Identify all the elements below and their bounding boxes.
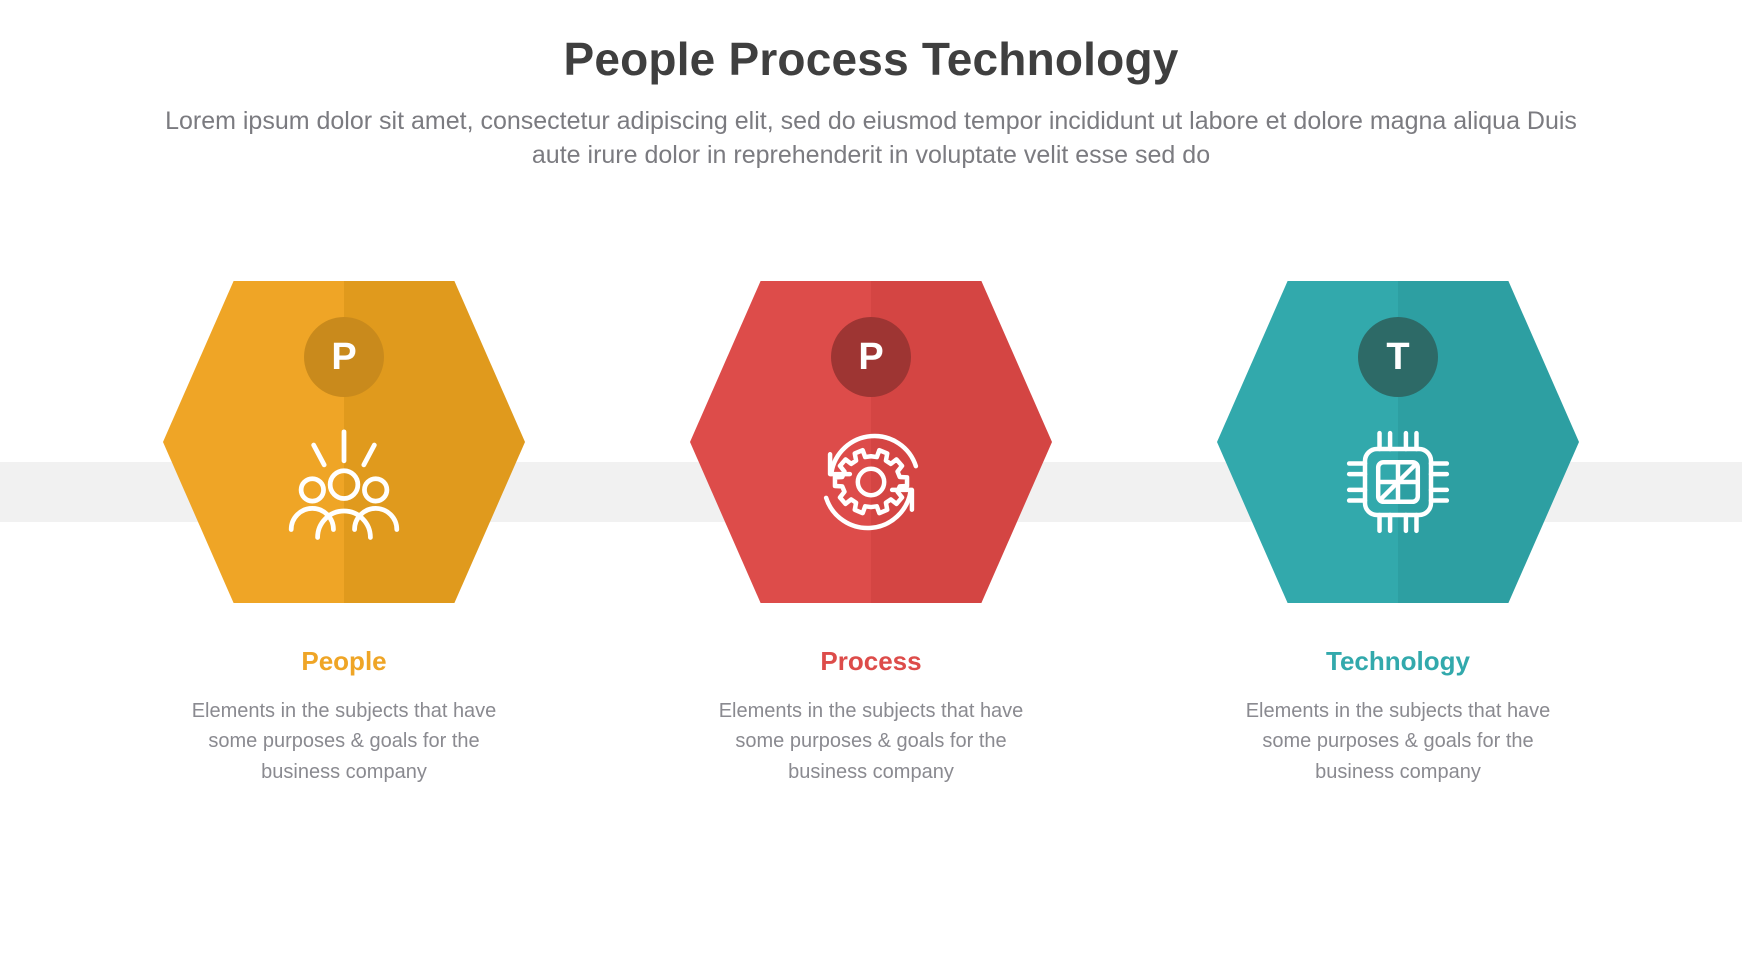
item-desc-technology: Elements in the subjects that have some … (1233, 696, 1563, 787)
page-subtitle: Lorem ipsum dolor sit amet, consectetur … (161, 104, 1581, 173)
item-people[interactable]: P (118, 281, 570, 841)
page-title: People Process Technology (0, 34, 1742, 86)
item-process[interactable]: P Process Elements in the su (645, 281, 1097, 841)
item-title-process: Process (820, 648, 921, 674)
item-title-technology: Technology (1326, 648, 1470, 674)
item-title-people: People (301, 648, 386, 674)
hexagon-people[interactable]: P (163, 281, 525, 603)
hexagon-process[interactable]: P (690, 281, 1052, 603)
item-desc-people: Elements in the subjects that have some … (179, 696, 509, 787)
badge-people: P (304, 317, 384, 397)
item-technology[interactable]: T (1172, 281, 1624, 841)
items-row: P (0, 281, 1742, 841)
header: People Process Technology Lorem ipsum do… (0, 34, 1742, 173)
badge-letter: P (858, 338, 883, 376)
badge-technology: T (1358, 317, 1438, 397)
item-desc-process: Elements in the subjects that have some … (706, 696, 1036, 787)
hexagon-technology[interactable]: T (1217, 281, 1579, 603)
badge-letter: T (1386, 338, 1409, 376)
badge-process: P (831, 317, 911, 397)
infographic-canvas: People Process Technology Lorem ipsum do… (0, 0, 1742, 980)
people-group-icon (278, 416, 410, 548)
gear-refresh-icon (805, 416, 937, 548)
microchip-icon (1332, 416, 1464, 548)
badge-letter: P (331, 338, 356, 376)
